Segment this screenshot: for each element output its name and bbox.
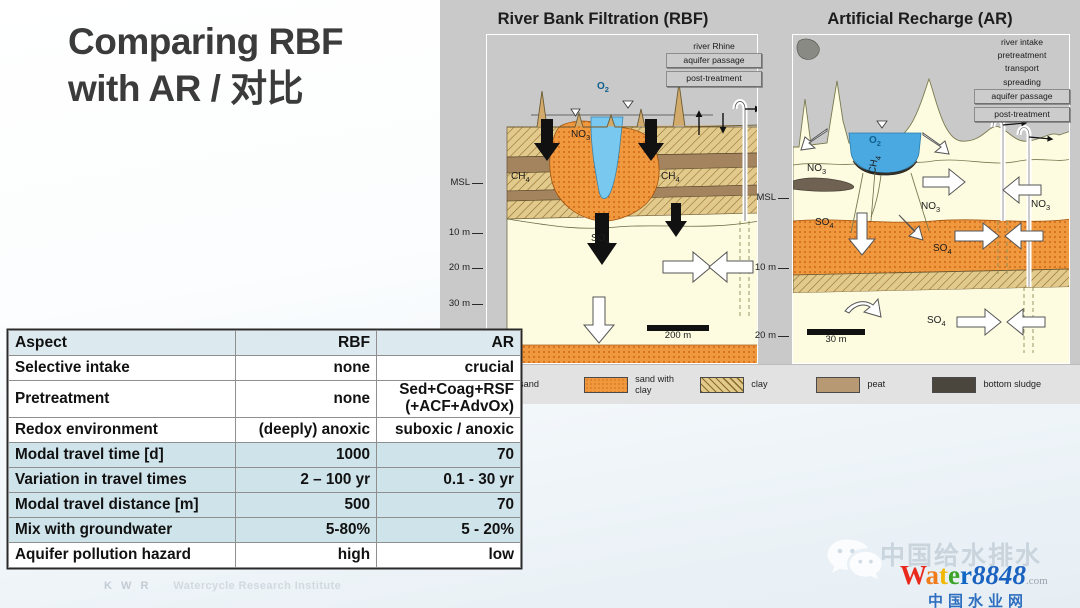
watermark-letter-t: t xyxy=(939,560,948,590)
table-row: Selective intake none crucial xyxy=(9,356,521,381)
row-ar-pretreatment-line-2: (+ACF+AdvOx) xyxy=(383,399,514,416)
watermark-letter-a: a xyxy=(926,560,940,590)
table-row: Variation in travel times 2 – 100 yr 0.1… xyxy=(9,467,521,492)
watermark: 中国给水排水 Water8848.com 中国水业网 xyxy=(824,520,1074,604)
ar-chem-no3-upperleft: NO3 xyxy=(807,163,826,176)
legend-item-bottom-sludge: bottom sludge xyxy=(932,377,1080,393)
ar-depth-10m: 10 m xyxy=(755,262,776,273)
table-row: Pretreatment none Sed+Coag+RSF (+ACF+Adv… xyxy=(9,381,521,418)
page-title-line-2: with AR / 对比 xyxy=(68,65,448,112)
rbf-panel-heading: River Bank Filtration (RBF) xyxy=(448,10,758,29)
table-row: Redox environment (deeply) anoxic suboxi… xyxy=(9,417,521,442)
clay-swatch xyxy=(700,377,744,393)
legend-item-clay: clay xyxy=(700,377,816,393)
watermark-letter-w: W xyxy=(900,560,926,590)
row-aspect-modal-travel-time: Modal travel time [d] xyxy=(9,442,236,467)
watermark-digits: 8848 xyxy=(972,560,1026,590)
row-rbf-aquifer-pollution-hazard: high xyxy=(236,542,377,567)
ar-panel-heading: Artificial Recharge (AR) xyxy=(770,10,1070,29)
institute-logo: K W RWatercycle Research Institute xyxy=(104,580,341,592)
institute-logo-text: Watercycle Research Institute xyxy=(173,580,341,592)
rbf-chem-so4: SO4 xyxy=(591,233,610,246)
ar-chem-no3-center: NO3 xyxy=(921,201,940,214)
rbf-depth-10m: 10 m xyxy=(449,227,470,238)
page-title-line-1: Comparing RBF xyxy=(68,21,343,62)
row-aspect-aquifer-pollution-hazard: Aquifer pollution hazard xyxy=(9,542,236,567)
row-aspect-pretreatment: Pretreatment xyxy=(9,381,236,418)
watermark-letter-e: e xyxy=(948,560,960,590)
row-ar-selective-intake: crucial xyxy=(377,356,521,381)
row-ar-aquifer-pollution-hazard: low xyxy=(377,542,521,567)
rbf-depth-msl: MSL xyxy=(450,177,470,188)
ar-step-transport: transport xyxy=(974,62,1070,75)
table-row: Aquifer pollution hazard high low xyxy=(9,542,521,567)
row-rbf-modal-travel-distance: 500 xyxy=(236,492,377,517)
ar-chem-no3-right: NO3 xyxy=(1031,199,1050,212)
watermark-cn-bottom: 中国水业网 xyxy=(928,590,1028,608)
ar-scalebar: 30 m xyxy=(807,329,865,345)
row-ar-pretreatment: Sed+Coag+RSF (+ACF+AdvOx) xyxy=(377,381,521,418)
watermark-letter-r: r xyxy=(960,560,972,590)
rbf-chem-no3: NO3 xyxy=(571,129,590,142)
table-header-ar: AR xyxy=(377,331,521,356)
rbf-chem-ch4-left: CH4 xyxy=(511,171,530,184)
ar-process-steps: river intake pretreatment transport spre… xyxy=(974,36,1070,125)
row-ar-modal-travel-time: 70 xyxy=(377,442,521,467)
row-aspect-variation-travel-times: Variation in travel times xyxy=(9,467,236,492)
table-header-rbf: RBF xyxy=(236,331,377,356)
institute-logo-mark: K W R xyxy=(104,580,151,592)
legend-label-clay: clay xyxy=(751,379,767,390)
legend-label-peat: peat xyxy=(867,379,885,390)
watermark-water8848: Water8848.com xyxy=(900,560,1048,591)
row-aspect-modal-travel-distance: Modal travel distance [m] xyxy=(9,492,236,517)
ar-scalebar-label: 30 m xyxy=(825,334,846,345)
ar-chem-o2: O2 xyxy=(869,135,881,148)
rbf-scalebar-label: 200 m xyxy=(665,330,691,341)
legend-label-bottom-sludge: bottom sludge xyxy=(983,379,1041,390)
row-aspect-redox-environment: Redox environment xyxy=(9,417,236,442)
page-title: Comparing RBF with AR / 对比 xyxy=(68,18,448,113)
rbf-chem-ch4-right: CH4 xyxy=(661,171,680,184)
ar-depth-20m: 20 m xyxy=(755,330,776,341)
comparison-table: Aspect RBF AR Selective intake none cruc… xyxy=(8,330,521,568)
table-row: Modal travel time [d] 1000 70 xyxy=(9,442,521,467)
rbf-depth-20m: 20 m xyxy=(449,262,470,273)
ar-step-aquifer-passage: aquifer passage xyxy=(974,89,1070,104)
table-header-aspect: Aspect xyxy=(9,331,236,356)
legend-label-sand-with-clay: sand with clay xyxy=(635,374,687,395)
sand-with-clay-swatch xyxy=(584,377,628,393)
ar-step-river-intake: river intake xyxy=(974,36,1070,49)
rbf-step-post-treatment: post-treatment xyxy=(666,71,762,86)
table-row: Modal travel distance [m] 500 70 xyxy=(9,492,521,517)
row-rbf-redox-environment: (deeply) anoxic xyxy=(236,417,377,442)
watermark-dotcom: .com xyxy=(1026,575,1048,587)
row-rbf-modal-travel-time: 1000 xyxy=(236,442,377,467)
row-rbf-pretreatment: none xyxy=(236,381,377,418)
rbf-scalebar: 200 m xyxy=(647,325,709,341)
legend-item-sand-with-clay: sand with clay xyxy=(584,374,700,395)
rbf-step-river-rhine: river Rhine xyxy=(666,40,762,53)
row-aspect-mix-with-groundwater: Mix with groundwater xyxy=(9,517,236,542)
ar-step-post-treatment: post-treatment xyxy=(974,107,1070,122)
peat-swatch xyxy=(816,377,860,393)
ar-step-spreading: spreading xyxy=(974,76,1070,89)
row-ar-variation-travel-times: 0.1 - 30 yr xyxy=(377,467,521,492)
ar-step-pretreatment: pretreatment xyxy=(974,49,1070,62)
row-rbf-variation-travel-times: 2 – 100 yr xyxy=(236,467,377,492)
rbf-process-steps: river Rhine aquifer passage post-treatme… xyxy=(666,40,762,90)
rbf-chem-o2: O2 xyxy=(597,81,609,94)
rbf-depth-axis: MSL 10 m 20 m 30 m xyxy=(440,0,486,364)
table-row: Mix with groundwater 5-80% 5 - 20% xyxy=(9,517,521,542)
row-ar-mix-with-groundwater: 5 - 20% xyxy=(377,517,521,542)
table-header-row: Aspect RBF AR xyxy=(9,331,521,356)
row-rbf-selective-intake: none xyxy=(236,356,377,381)
row-aspect-selective-intake: Selective intake xyxy=(9,356,236,381)
rbf-step-aquifer-passage: aquifer passage xyxy=(666,53,762,68)
ar-chem-so4-mid: SO4 xyxy=(933,243,952,256)
bottom-sludge-swatch xyxy=(932,377,976,393)
legend-label-sand: sand xyxy=(519,379,539,390)
ar-chem-so4-upperleft: SO4 xyxy=(815,217,834,230)
ar-chem-so4-lower: SO4 xyxy=(927,315,946,328)
row-ar-redox-environment: suboxic / anoxic xyxy=(377,417,521,442)
ar-scalebar-bar xyxy=(807,329,865,333)
wechat-icon xyxy=(826,536,884,582)
row-ar-pretreatment-line-1: Sed+Coag+RSF xyxy=(383,382,514,399)
row-ar-modal-travel-distance: 70 xyxy=(377,492,521,517)
row-rbf-mix-with-groundwater: 5-80% xyxy=(236,517,377,542)
diagram-panel: River Bank Filtration (RBF) Artificial R… xyxy=(440,0,1080,404)
soil-legend: sand sand with clay clay peat bottom slu… xyxy=(440,364,1080,404)
rbf-scalebar-bar xyxy=(647,325,709,329)
legend-item-peat: peat xyxy=(816,377,932,393)
ar-depth-msl: MSL xyxy=(756,192,776,203)
rbf-depth-30m: 30 m xyxy=(449,298,470,309)
